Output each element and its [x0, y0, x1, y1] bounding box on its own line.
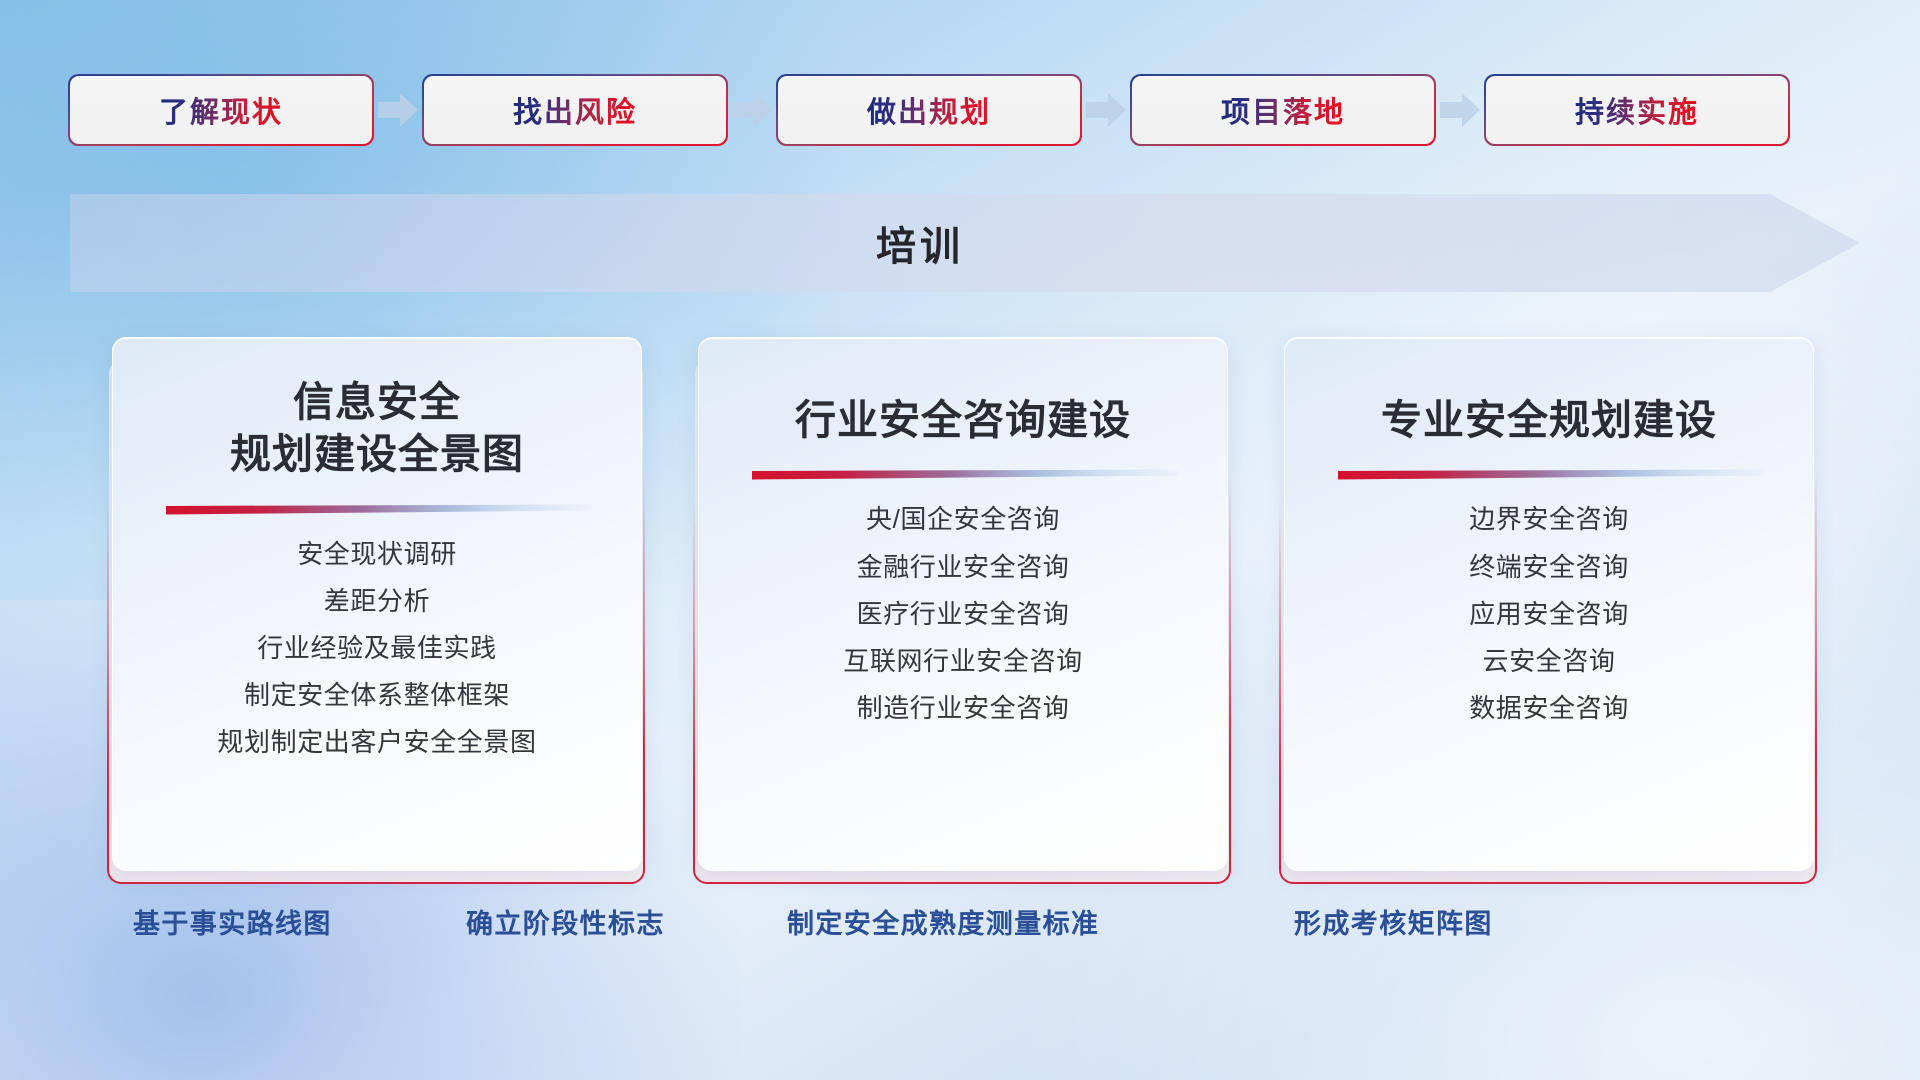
card-list-item: 制定安全体系整体框架	[244, 674, 510, 716]
card-title: 专业安全规划建设	[1357, 394, 1741, 446]
footer-label-1: 基于事实路线图	[133, 902, 332, 941]
process-step-label: 持续实施	[1575, 89, 1699, 131]
right-block-arrow-icon	[1434, 88, 1486, 132]
card-list-item: 边界安全咨询	[1469, 498, 1629, 540]
footer-label-row: 基于事实路线图确立阶段性标志制定安全成熟度测量标准形成考核矩阵图	[0, 902, 1920, 958]
card-title: 信息安全 规划建设全景图	[206, 376, 548, 481]
process-step-label: 做出规划	[867, 89, 991, 131]
tapered-gradient-rule-icon	[162, 503, 592, 519]
card-list-item: 安全现状调研	[297, 533, 457, 575]
footer-label-2: 确立阶段性标志	[466, 902, 665, 941]
process-step-1[interactable]: 了解现状	[70, 76, 372, 144]
card-list-item: 制造行业安全咨询	[857, 687, 1070, 729]
card-list-item: 终端安全咨询	[1469, 546, 1629, 588]
footer-label-4: 形成考核矩阵图	[1294, 902, 1493, 941]
card-list-item: 医疗行业安全咨询	[857, 593, 1070, 635]
card-list-item: 数据安全咨询	[1469, 687, 1629, 729]
card-list-item: 差距分析	[324, 580, 430, 622]
training-banner: 培训	[70, 188, 1860, 298]
card-item-list: 央/国企安全咨询金融行业安全咨询医疗行业安全咨询互联网行业安全咨询制造行业安全咨…	[699, 498, 1227, 729]
process-step-4[interactable]: 项目落地	[1132, 76, 1434, 144]
process-step-label: 了解现状	[159, 89, 283, 131]
card-body: 信息安全 规划建设全景图安全现状调研差距分析行业经验及最佳实践制定安全体系整体框…	[112, 337, 642, 871]
card-list-item: 云安全咨询	[1482, 640, 1615, 682]
right-block-arrow-icon	[372, 88, 424, 132]
card-body: 专业安全规划建设边界安全咨询终端安全咨询应用安全咨询云安全咨询数据安全咨询	[1284, 337, 1814, 871]
card-list-item: 行业经验及最佳实践	[257, 627, 496, 669]
process-step-5[interactable]: 持续实施	[1486, 76, 1788, 144]
card-body: 行业安全咨询建设央/国企安全咨询金融行业安全咨询医疗行业安全咨询互联网行业安全咨…	[698, 337, 1228, 871]
card-list-item: 互联网行业安全咨询	[843, 640, 1082, 682]
card-list-item: 央/国企安全咨询	[866, 498, 1060, 540]
process-step-2[interactable]: 找出风险	[424, 76, 726, 144]
tapered-gradient-rule-icon	[748, 468, 1178, 484]
process-step-3[interactable]: 做出规划	[778, 76, 1080, 144]
process-step-row: 了解现状找出风险做出规划项目落地持续实施	[70, 74, 1856, 146]
banner-label: 培训	[70, 188, 1860, 298]
process-step-label: 找出风险	[513, 89, 637, 131]
service-card-1[interactable]: 信息安全 规划建设全景图安全现状调研差距分析行业经验及最佳实践制定安全体系整体框…	[112, 337, 640, 877]
right-block-arrow-icon	[1080, 88, 1132, 132]
card-item-list: 边界安全咨询终端安全咨询应用安全咨询云安全咨询数据安全咨询	[1285, 498, 1813, 729]
service-card-3[interactable]: 专业安全规划建设边界安全咨询终端安全咨询应用安全咨询云安全咨询数据安全咨询	[1284, 337, 1812, 877]
process-step-label: 项目落地	[1221, 89, 1345, 131]
right-block-arrow-icon	[726, 88, 778, 132]
footer-label-3: 制定安全成熟度测量标准	[787, 902, 1099, 941]
card-title: 行业安全咨询建设	[771, 394, 1155, 446]
card-list-item: 规划制定出客户安全全景图	[217, 721, 536, 763]
card-row: 信息安全 规划建设全景图安全现状调研差距分析行业经验及最佳实践制定安全体系整体框…	[112, 337, 1812, 877]
service-card-2[interactable]: 行业安全咨询建设央/国企安全咨询金融行业安全咨询医疗行业安全咨询互联网行业安全咨…	[698, 337, 1226, 877]
card-list-item: 金融行业安全咨询	[857, 546, 1070, 588]
tapered-gradient-rule-icon	[1334, 468, 1764, 484]
card-item-list: 安全现状调研差距分析行业经验及最佳实践制定安全体系整体框架规划制定出客户安全全景…	[113, 533, 641, 764]
card-list-item: 应用安全咨询	[1469, 593, 1629, 635]
slide-canvas: 了解现状找出风险做出规划项目落地持续实施 培训 信息安全 规划建设全景图安全现状…	[0, 0, 1920, 1080]
